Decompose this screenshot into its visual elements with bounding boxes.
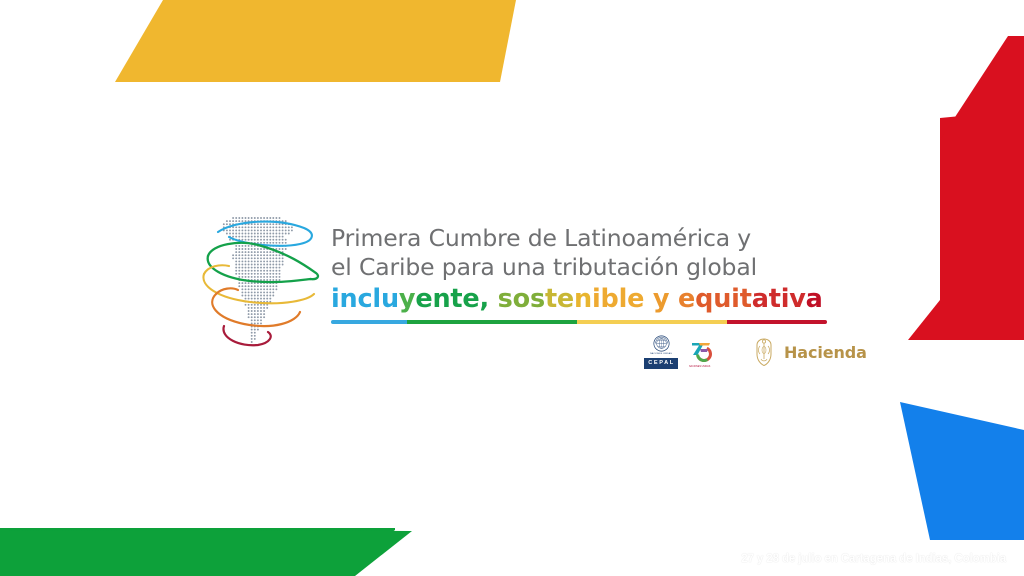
title-segment-3 xyxy=(489,284,498,314)
title-segment-8 xyxy=(644,284,653,314)
title-segment-1: y xyxy=(399,284,415,314)
title-segment-14: a xyxy=(806,284,823,314)
sponsor-logos-row: NACIONES UNIDAS CEPAL NACIONES UNIDAS xyxy=(638,332,867,372)
yellow-segment xyxy=(577,320,727,324)
green-ribbon xyxy=(208,243,318,279)
united-nations-emblem-icon xyxy=(653,335,670,352)
title-segment-4: sos xyxy=(498,284,545,314)
title-segment-7: ible xyxy=(592,284,644,314)
cepal-sponsor: NACIONES UNIDAS CEPAL NACIONES UNIDAS xyxy=(638,335,715,369)
cepal-wordmark: CEPAL xyxy=(644,358,678,369)
event-title: Primera Cumbre de Latinoamérica y el Car… xyxy=(331,224,851,315)
multicolor-divider-rule xyxy=(331,320,827,324)
title-segment-5: te xyxy=(545,284,574,314)
latin-america-dotted-map-icon xyxy=(196,202,328,354)
title-line-1: Primera Cumbre de Latinoamérica y xyxy=(331,224,851,253)
right-red-parallelogram-bottom xyxy=(908,300,1024,340)
un-75-anniversary-mark: NACIONES UNIDAS xyxy=(689,339,715,369)
presentation-slide: Primera Cumbre de Latinoamérica y el Car… xyxy=(0,0,1024,576)
title-segment-13: ativ xyxy=(752,284,806,314)
un-75-icon xyxy=(689,339,715,365)
un-75-caption: NACIONES UNIDAS xyxy=(689,366,715,369)
green-segment xyxy=(407,320,577,324)
bottom-left-green-band-taper xyxy=(0,530,412,576)
title-line-3-gradient: incluyente, sostenible y equitativa xyxy=(331,283,851,315)
top-yellow-parallelogram xyxy=(115,0,516,82)
title-segment-9: y xyxy=(653,284,669,314)
right-red-parallelogram-top xyxy=(940,36,1024,140)
orange-ribbon xyxy=(212,294,300,326)
hacienda-sponsor: Hacienda xyxy=(751,337,867,367)
event-date-location: 27 y 28 de julio en Cartagena de Indias,… xyxy=(741,553,1006,565)
hacienda-wordmark: Hacienda xyxy=(784,343,867,362)
blue-segment xyxy=(331,320,407,324)
event-logo-lockup: Primera Cumbre de Latinoamérica y el Car… xyxy=(196,198,856,378)
title-segment-11: e xyxy=(678,284,695,314)
title-segment-10 xyxy=(669,284,678,314)
un-caption: NACIONES UNIDAS xyxy=(650,353,672,356)
title-segment-2: ente, xyxy=(415,284,489,314)
bottom-right-blue-triangle xyxy=(900,402,1024,540)
title-line-2: el Caribe para una tributación global xyxy=(331,253,851,282)
red-segment xyxy=(727,320,827,324)
united-nations-emblem-block: NACIONES UNIDAS CEPAL xyxy=(638,335,684,369)
crimson-ribbon xyxy=(223,326,270,345)
right-red-parallelogram xyxy=(940,110,1024,330)
title-segment-12: quit xyxy=(695,284,752,314)
title-segment-0: inclu xyxy=(331,284,399,314)
colombia-coat-of-arms-icon xyxy=(751,337,777,367)
cepal-logo: NACIONES UNIDAS CEPAL NACIONES UNIDAS xyxy=(638,335,715,369)
title-segment-6: n xyxy=(574,284,592,314)
hacienda-logo: Hacienda xyxy=(751,337,867,367)
